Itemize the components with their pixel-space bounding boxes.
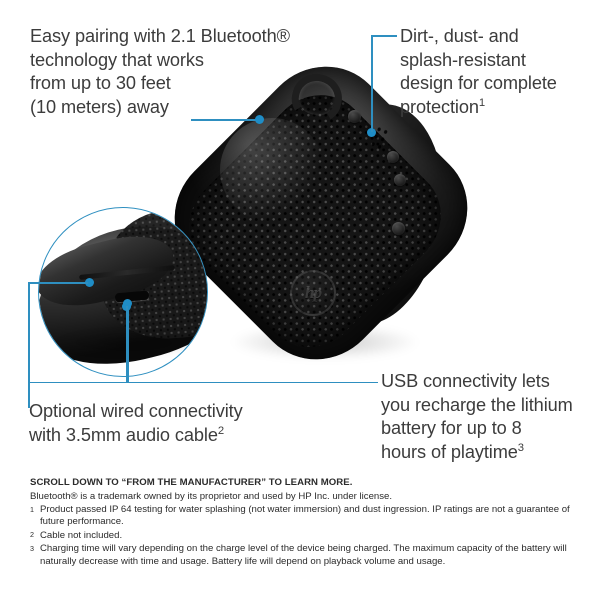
callout-wired-superscript: 2 (218, 425, 224, 437)
leader-line-resistant-vertical (371, 36, 373, 132)
leader-line-resistant-horizontal (371, 35, 397, 37)
footnote-text: Product passed IP 64 testing for water s… (40, 504, 570, 529)
callout-usb-superscript: 3 (518, 442, 524, 454)
callout-pairing-text: Easy pairing with 2.1 Bluetooth® technol… (30, 26, 290, 117)
inset-shadow (55, 330, 205, 356)
leader-line-volume-horizontal (28, 282, 88, 284)
hp-logo: hp (290, 270, 336, 316)
leader-line-aux-vertical (126, 306, 128, 382)
magnifier-inset-ports (38, 207, 208, 377)
leader-line-volume-vertical (28, 282, 30, 382)
footnote-marker: 3 (30, 543, 40, 568)
footnote-text: Cable not included. (40, 530, 570, 542)
infographic-canvas: hp Easy pairing with 2.1 Bluetooth® tech… (0, 0, 600, 600)
footnotes-block: SCROLL DOWN TO “FROM THE MANUFACTURER” T… (30, 477, 570, 569)
footnote-headline: SCROLL DOWN TO “FROM THE MANUFACTURER” T… (30, 477, 570, 488)
callout-usb-battery: USB connectivity lets you recharge the l… (381, 370, 596, 465)
footnote-item: 2 Cable not included. (30, 530, 570, 542)
footnote-item: 3 Charging time will vary depending on t… (30, 543, 570, 568)
callout-resistant-superscript: 1 (479, 97, 485, 109)
callout-wired-connectivity: Optional wired connectivity with 3.5mm a… (29, 400, 314, 447)
leader-line-usb-horizontal (127, 382, 378, 384)
leader-line-aux-horizontal (28, 382, 127, 384)
footnote-trademark: Bluetooth® is a trademark owned by its p… (30, 491, 570, 502)
callout-wired-text: Optional wired connectivity with 3.5mm a… (29, 401, 243, 445)
bluetooth-button-icon (392, 222, 405, 235)
footnote-marker: 1 (30, 504, 40, 529)
footnote-text: Charging time will vary depending on the… (40, 543, 570, 568)
callout-bluetooth-pairing: Easy pairing with 2.1 Bluetooth® technol… (30, 25, 350, 120)
volume-down-button-icon (394, 174, 406, 186)
callout-usb-text: USB connectivity lets you recharge the l… (381, 371, 573, 462)
callout-water-resistance: Dirt-, dust- and splash-resistant design… (400, 25, 590, 120)
footnote-marker: 2 (30, 530, 40, 542)
footnote-item: 1 Product passed IP 64 testing for water… (30, 504, 570, 529)
volume-up-button-icon (387, 151, 399, 163)
